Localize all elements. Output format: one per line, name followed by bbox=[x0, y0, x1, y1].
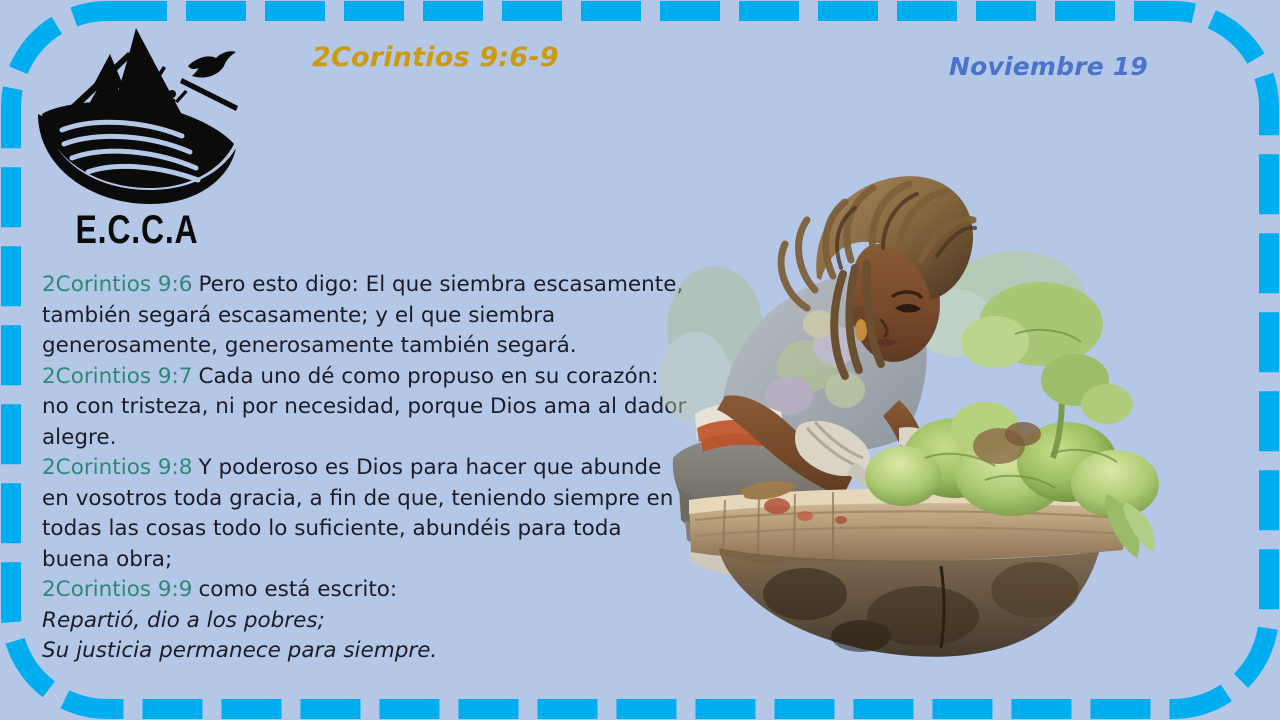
bird-icon bbox=[188, 51, 236, 77]
ecca-logo: E.C.C.A bbox=[32, 18, 242, 263]
verse-7: 2Corintios 9:7Cada uno dé como propuso e… bbox=[42, 362, 692, 454]
scripture-body: 2Corintios 9:6Pero esto digo: El que sie… bbox=[42, 270, 692, 667]
ecca-logo-mark bbox=[32, 18, 242, 208]
poetic-line-1: Repartió, dio a los pobres; bbox=[42, 606, 692, 637]
woman-gardening-illustration bbox=[655, 128, 1185, 688]
verse-6: 2Corintios 9:6Pero esto digo: El que sie… bbox=[42, 270, 692, 362]
verse-text-9: como está escrito: bbox=[198, 577, 397, 602]
wooden-planter-box bbox=[689, 481, 1125, 657]
date-label: Noviembre 19 bbox=[949, 52, 1148, 81]
rigging-icon bbox=[180, 78, 238, 111]
verse-reference-7: 2Corintios 9:7 bbox=[42, 364, 192, 389]
verse-reference-9: 2Corintios 9:9 bbox=[42, 577, 192, 602]
poetic-line-2: Su justicia permanece para siempre. bbox=[42, 636, 692, 667]
verse-8: 2Corintios 9:8Y poderoso es Dios para ha… bbox=[42, 453, 692, 575]
ecca-wordmark: E.C.C.A bbox=[53, 210, 221, 250]
verse-9: 2Corintios 9:9como está escrito: bbox=[42, 575, 692, 606]
slide-canvas: E.C.C.A 2Corintios 9:6-9 Noviembre 19 2C… bbox=[0, 0, 1280, 720]
verse-reference-8: 2Corintios 9:8 bbox=[42, 455, 192, 480]
verse-reference-6: 2Corintios 9:6 bbox=[42, 272, 192, 297]
page-title: 2Corintios 9:6-9 bbox=[312, 42, 559, 73]
